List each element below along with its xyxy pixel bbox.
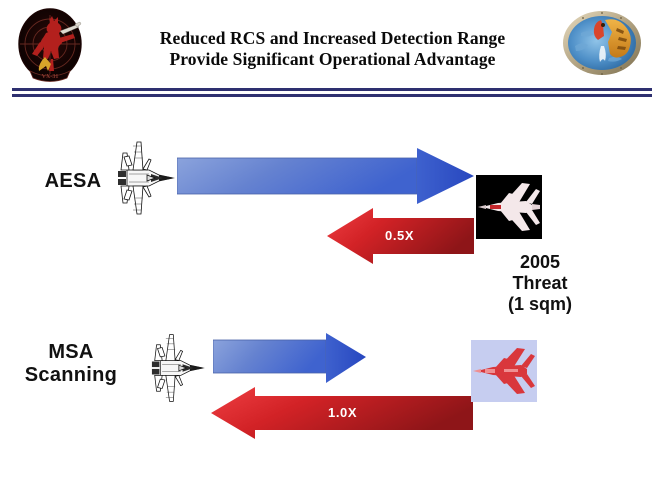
row-label-msa-line-1: MSA — [12, 341, 130, 364]
header-divider — [12, 88, 652, 97]
page-title-line-2: Provide Significant Operational Advantag… — [110, 49, 555, 70]
page-title: Reduced RCS and Increased Detection Rang… — [110, 28, 555, 70]
threat-aircraft-top-image — [476, 175, 542, 239]
ownship-aircraft-icon — [138, 329, 216, 407]
threat-caption: 2005 Threat (1 sqm) — [470, 252, 610, 315]
msa-detection-range-arrow — [213, 333, 366, 383]
page-title-line-1: Reduced RCS and Increased Detection Rang… — [110, 28, 555, 49]
ownship-aircraft-icon — [103, 136, 187, 220]
threat-caption-line-1: 2005 — [470, 252, 610, 273]
aesa-detection-range-arrow — [177, 148, 474, 204]
row-label-msa-line-2: Scanning — [12, 364, 130, 387]
header-divider-line-bottom — [12, 94, 652, 97]
program-patch-right-icon — [561, 6, 643, 80]
threat-aircraft-bottom-image — [471, 340, 537, 402]
squadron-patch-text: VX-31 — [42, 74, 59, 80]
squadron-patch-left-icon: VX-31 — [16, 7, 84, 85]
comparison-row-msa: MSA Scanning — [0, 315, 663, 470]
aesa-threat-arrow-label: 0.5X — [385, 228, 414, 243]
threat-caption-line-3: (1 sqm) — [470, 294, 610, 315]
threat-caption-line-2: Threat — [470, 273, 610, 294]
msa-threat-arrow-label: 1.0X — [328, 405, 357, 420]
slide-header: VX-31 Reduced RCS and Increased Detectio… — [0, 0, 663, 100]
row-label-aesa-text: AESA — [45, 170, 102, 192]
row-label-msa: MSA Scanning — [12, 341, 130, 387]
